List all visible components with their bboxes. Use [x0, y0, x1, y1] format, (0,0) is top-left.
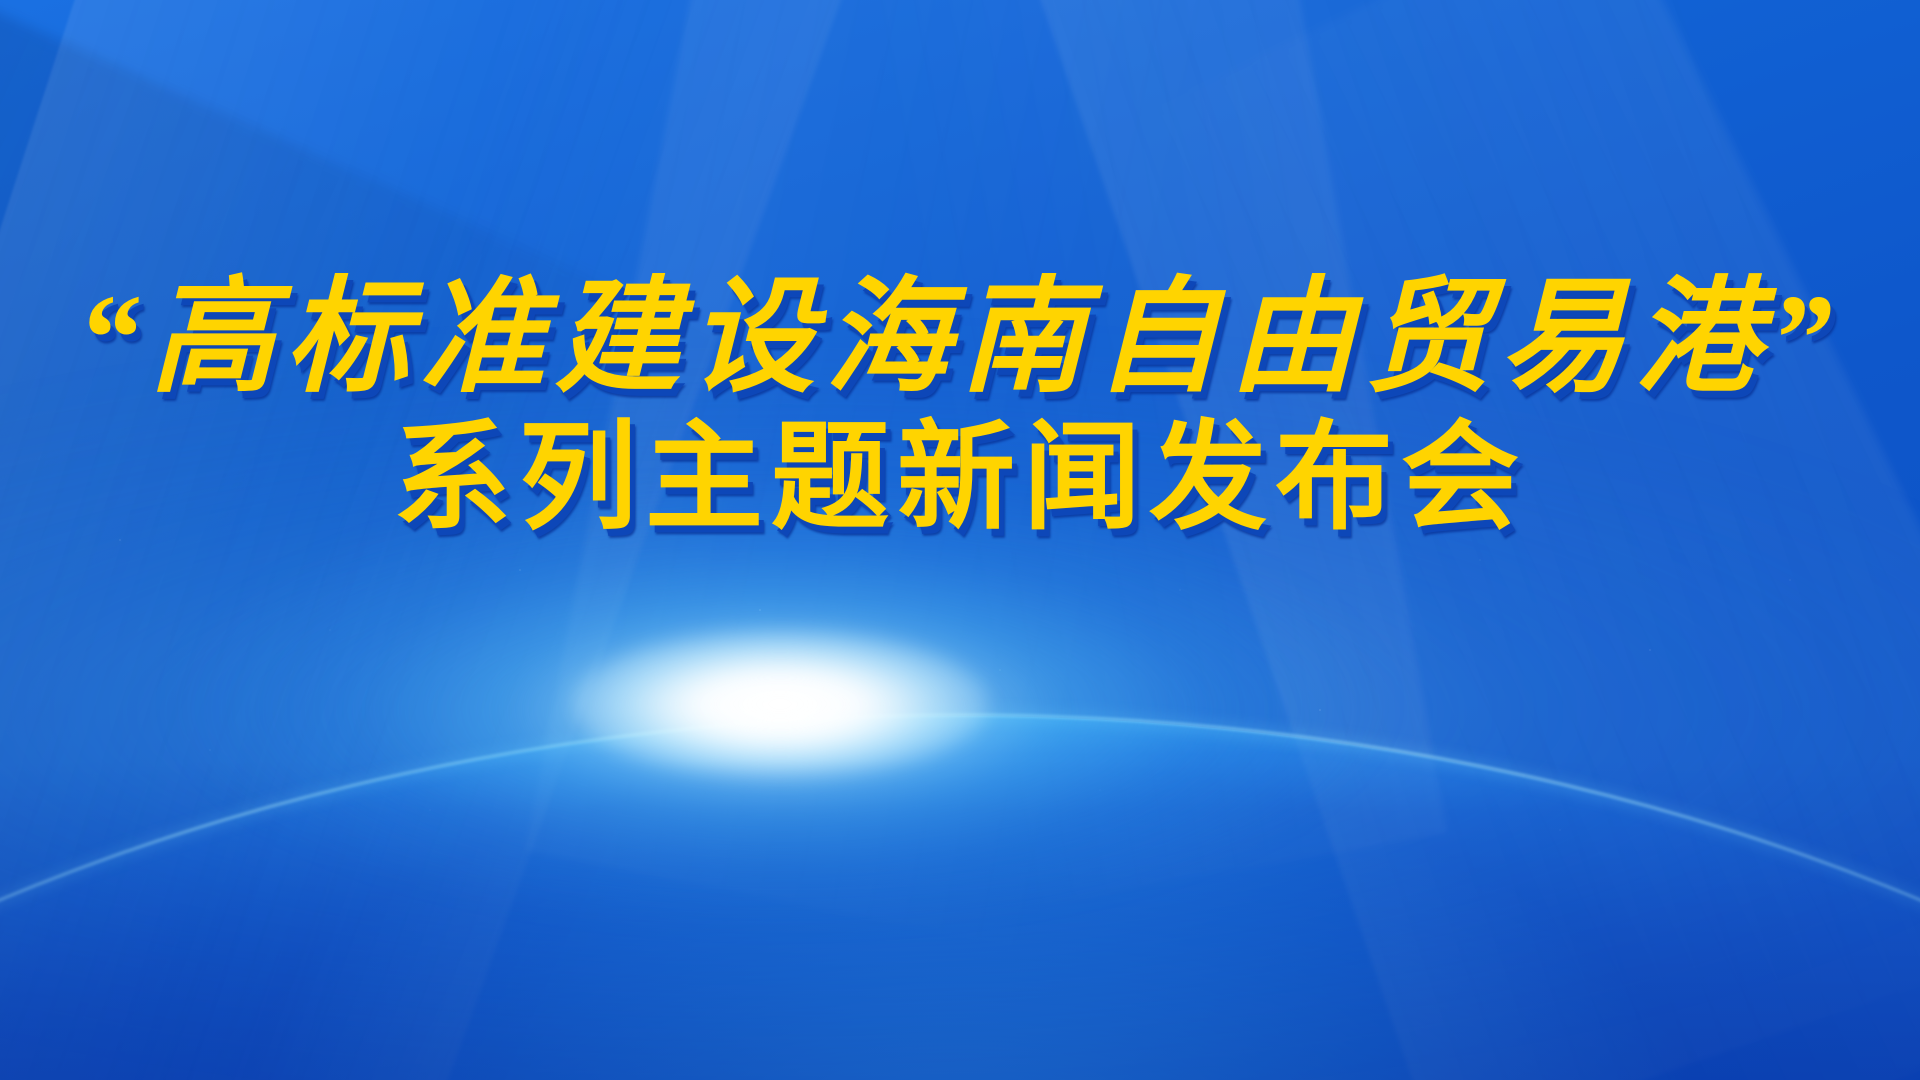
light-ray-2	[129, 0, 907, 1080]
background-dark-wedge	[0, 0, 842, 1080]
light-ray-1	[0, 0, 670, 1080]
earth-curve-outer-halo	[0, 712, 1920, 1080]
light-ray-3	[525, 0, 1283, 950]
horizon-glow-wide	[0, 362, 1920, 1062]
horizon-glow-hotspot	[570, 629, 990, 779]
earth-curve-body	[0, 716, 1920, 1080]
horizon-glow-core	[170, 480, 1390, 920]
light-ray-5	[997, 0, 1920, 1080]
poster-subheadline: 系列主题新闻发布会	[0, 420, 1920, 538]
below-horizon-shade	[0, 760, 1920, 1080]
light-ray-4	[806, 0, 1447, 907]
earth-curve-rim	[0, 714, 1920, 1080]
light-ray-6	[1140, 0, 1920, 1080]
poster-stage: “高标准建设海南自由贸易港” 系列主题新闻发布会	[0, 0, 1920, 1080]
starfield-speckles	[0, 500, 1920, 920]
poster-headline: “高标准建设海南自由贸易港”	[0, 277, 1920, 402]
